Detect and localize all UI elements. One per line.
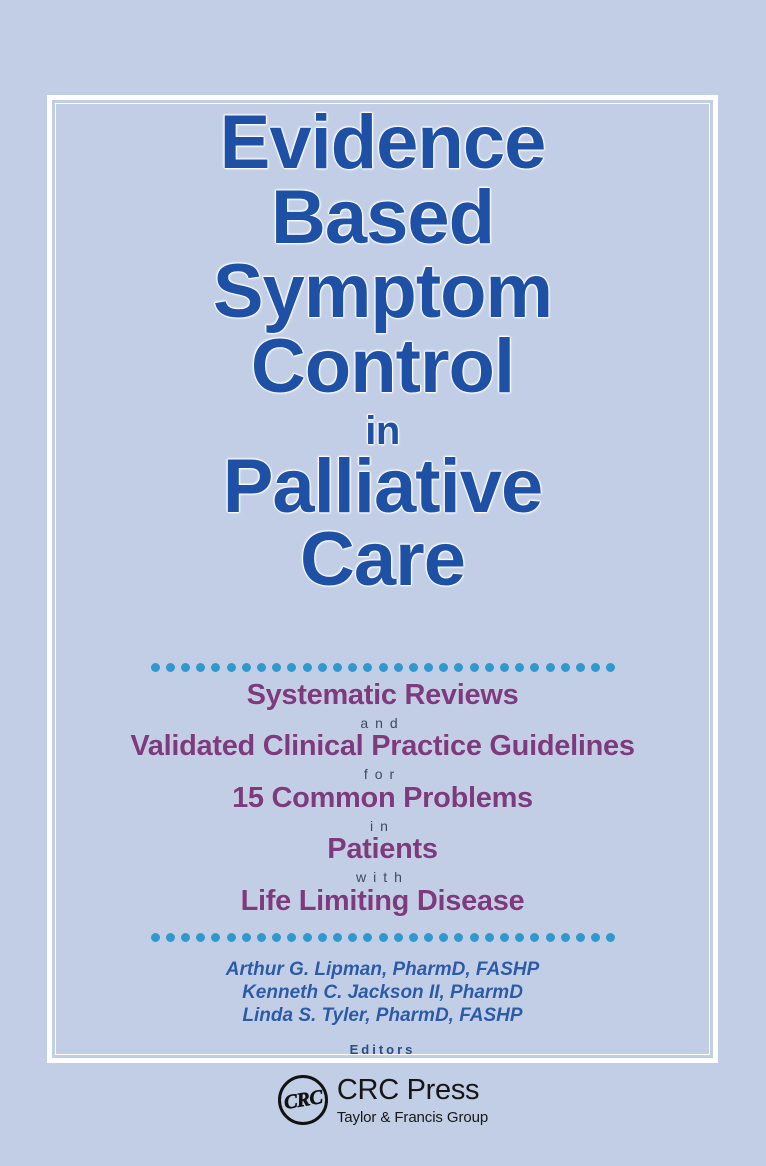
rule-dot	[606, 933, 615, 942]
rule-dot	[211, 663, 220, 672]
book-subtitle: Systematic Reviews and Validated Clinica…	[55, 681, 710, 916]
title-line-palliative: Palliative	[55, 452, 710, 523]
rule-dot	[272, 933, 281, 942]
editor-name-3: Linda S. Tyler, PharmD, FASHP	[55, 1004, 710, 1027]
editor-name-2: Kenneth C. Jackson II, PharmD	[55, 981, 710, 1004]
subtitle-line-guidelines: Validated Clinical Practice Guidelines	[55, 732, 710, 761]
rule-dot	[151, 933, 160, 942]
title-line-based: Based	[55, 183, 710, 254]
rule-dot	[470, 663, 479, 672]
rule-dot	[318, 933, 327, 942]
rule-dot	[287, 933, 296, 942]
rule-dot	[196, 663, 205, 672]
book-title: Evidence Based Symptom Control in Pallia…	[55, 108, 710, 595]
subtitle-connector-and: and	[55, 716, 710, 731]
rule-dot	[318, 663, 327, 672]
publisher-name: CRC Press	[337, 1076, 488, 1105]
rule-dot	[363, 933, 372, 942]
rule-dot	[394, 663, 403, 672]
rule-dot	[181, 663, 190, 672]
rule-dot	[500, 663, 509, 672]
rule-dot	[546, 933, 555, 942]
rule-dot	[470, 933, 479, 942]
subtitle-line-disease: Life Limiting Disease	[55, 887, 710, 916]
rule-dot	[227, 663, 236, 672]
rule-dot	[546, 663, 555, 672]
rule-dot	[257, 663, 266, 672]
subtitle-line-systematic-reviews: Systematic Reviews	[55, 681, 710, 710]
rule-dot	[530, 663, 539, 672]
book-cover: Evidence Based Symptom Control in Pallia…	[0, 0, 766, 1166]
rule-dot	[333, 933, 342, 942]
rule-dot	[409, 933, 418, 942]
rule-dot	[561, 663, 570, 672]
rule-dot	[151, 663, 160, 672]
rule-dot	[303, 933, 312, 942]
rule-dot	[379, 663, 388, 672]
publisher-group: Taylor & Francis Group	[337, 1110, 488, 1125]
rule-dot	[166, 933, 175, 942]
rule-dot	[591, 663, 600, 672]
rule-dot	[409, 663, 418, 672]
dotted-rule-top	[0, 661, 766, 673]
rule-dot	[561, 933, 570, 942]
editors-list: Arthur G. Lipman, PharmD, FASHP Kenneth …	[55, 958, 710, 1057]
title-line-evidence: Evidence	[55, 108, 710, 179]
rule-dot	[166, 663, 175, 672]
title-line-symptom: Symptom	[55, 257, 710, 328]
rule-dot	[211, 933, 220, 942]
rule-dot	[424, 663, 433, 672]
crc-circle-icon: CRC	[278, 1075, 328, 1125]
subtitle-connector-with: with	[55, 870, 710, 885]
rule-dot	[454, 663, 463, 672]
rule-dot	[227, 933, 236, 942]
rule-dot	[196, 933, 205, 942]
rule-dot	[439, 663, 448, 672]
rule-dot	[485, 933, 494, 942]
publisher-logo: CRC CRC Press Taylor & Francis Group	[0, 1075, 766, 1125]
rule-dot	[606, 663, 615, 672]
rule-dot	[363, 663, 372, 672]
rule-dot	[439, 933, 448, 942]
rule-dot	[515, 663, 524, 672]
rule-dot	[348, 663, 357, 672]
rule-dot	[500, 933, 509, 942]
rule-dot	[242, 933, 251, 942]
rule-dot	[287, 663, 296, 672]
rule-dot	[333, 663, 342, 672]
dotted-rule-bottom	[0, 931, 766, 943]
title-line-control: Control	[55, 332, 710, 403]
subtitle-line-patients: Patients	[55, 835, 710, 864]
editors-label: Editors	[55, 1042, 710, 1057]
rule-dot	[591, 933, 600, 942]
rule-dot	[485, 663, 494, 672]
rule-dot	[394, 933, 403, 942]
subtitle-connector-for: for	[55, 767, 710, 782]
title-line-care: Care	[55, 525, 710, 596]
editor-name-1: Arthur G. Lipman, PharmD, FASHP	[55, 958, 710, 981]
rule-dot	[530, 933, 539, 942]
rule-dot	[242, 663, 251, 672]
rule-dot	[348, 933, 357, 942]
subtitle-line-problems: 15 Common Problems	[55, 784, 710, 813]
rule-dot	[303, 663, 312, 672]
rule-dot	[576, 933, 585, 942]
rule-dot	[424, 933, 433, 942]
rule-dot	[515, 933, 524, 942]
rule-dot	[379, 933, 388, 942]
subtitle-connector-in: in	[55, 819, 710, 834]
crc-monogram: CRC	[282, 1086, 324, 1115]
rule-dot	[181, 933, 190, 942]
rule-dot	[272, 663, 281, 672]
rule-dot	[257, 933, 266, 942]
rule-dot	[454, 933, 463, 942]
rule-dot	[576, 663, 585, 672]
